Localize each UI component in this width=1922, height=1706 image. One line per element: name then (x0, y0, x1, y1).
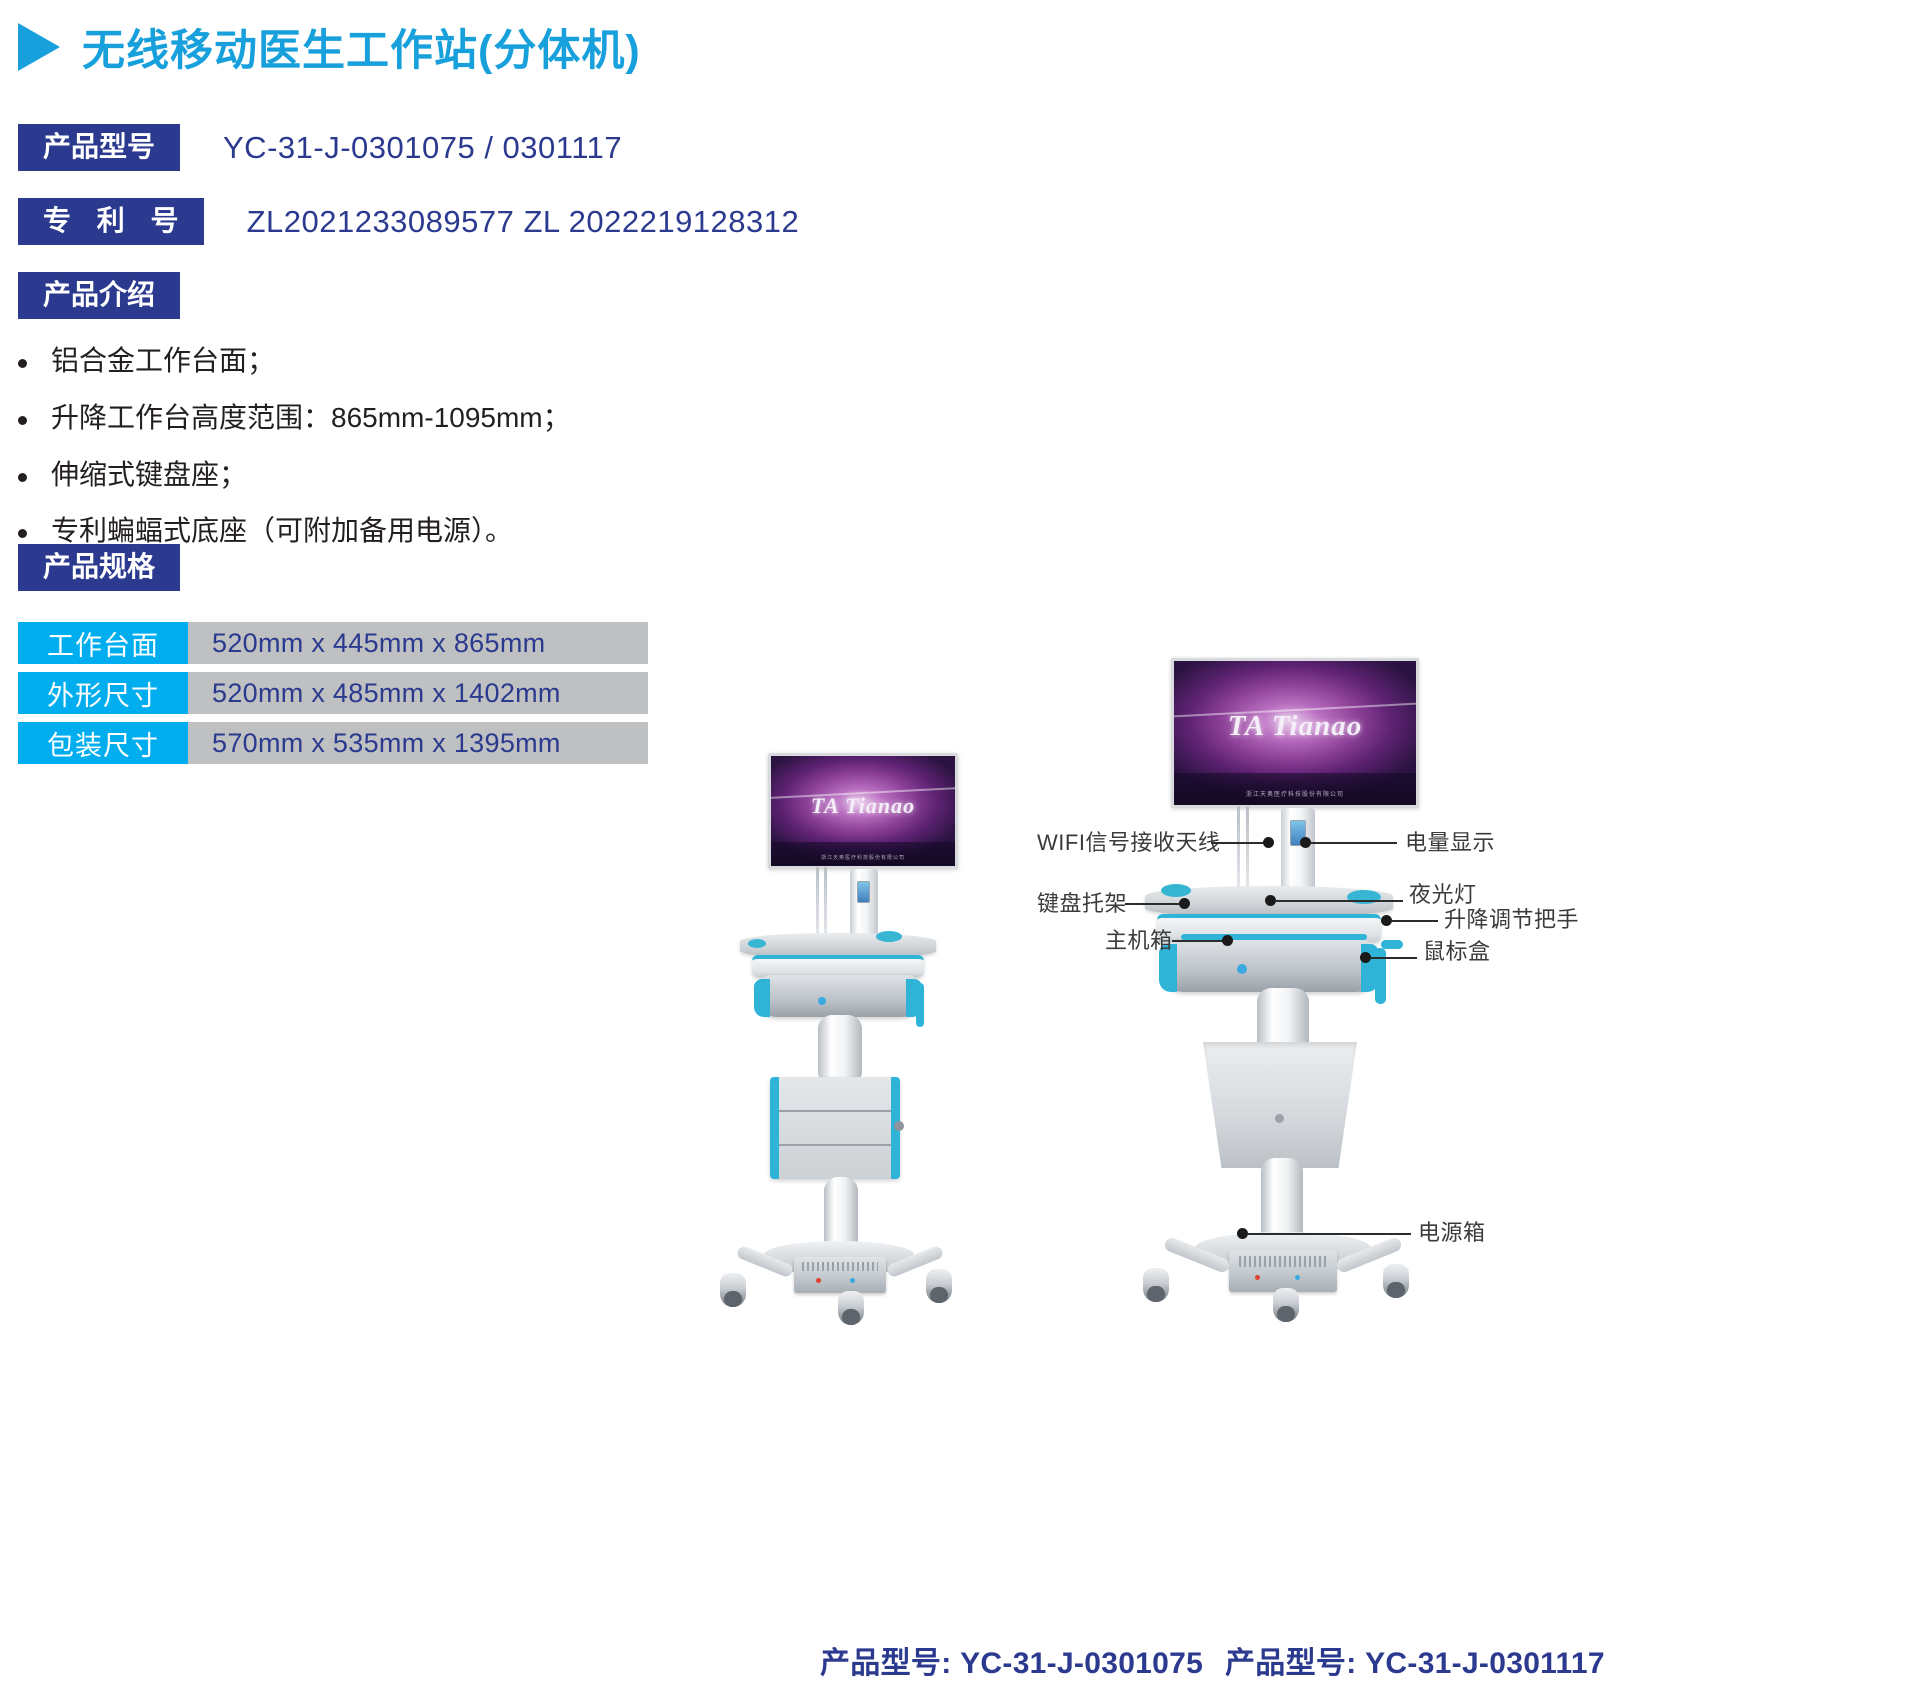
section-badge-intro: 产品介绍 (18, 272, 180, 319)
list-item-label: 升降工作台高度范围：865mm-1095mm； (51, 403, 571, 434)
callout-night-light: 夜光灯 (1409, 884, 1477, 906)
wifi-antenna-icon (816, 867, 819, 939)
battery-display (857, 881, 870, 903)
power-led-red (816, 1278, 821, 1283)
keyboard-tray (752, 955, 924, 977)
callout-anchor-dot (1179, 898, 1190, 909)
cpu-box (1167, 940, 1373, 992)
intro-bullet-list: 铝合金工作台面； 升降工作台高度范围：865mm-1095mm； 伸缩式键盘座；… (18, 346, 738, 573)
callout-leader-line (1247, 1233, 1411, 1235)
table-row: 包装尺寸 570mm x 535mm x 1395mm (18, 722, 648, 764)
cpu-side-cap (754, 979, 770, 1017)
mouse-holder (916, 983, 924, 1027)
drawer-divider (775, 1110, 895, 1112)
table-row: 外形尺寸 520mm x 485mm x 1402mm (18, 672, 648, 714)
list-item: 伸缩式键盘座； (18, 460, 738, 491)
table-row: 工作台面 520mm x 445mm x 865mm (18, 622, 648, 664)
bullet-dot-icon (18, 359, 27, 368)
cart-illustration-right: TA Tianao 浙江天奥医疗科技股份有限公司 (1085, 648, 1445, 1316)
screen-subtitle-text: 浙江天奥医疗科技股份有限公司 (771, 854, 955, 861)
callout-leader-line (1275, 900, 1403, 902)
surface-handle (748, 939, 766, 948)
caster-wheel (1383, 1264, 1409, 1298)
drawer-lock-icon (894, 1121, 904, 1131)
power-led-red (1255, 1275, 1260, 1280)
drawer-unit (770, 1077, 900, 1179)
section-heading-spec: 产品规格 (18, 544, 180, 591)
monitor-screen: TA Tianao 浙江天奥医疗科技股份有限公司 (1171, 658, 1419, 808)
power-led-blue (850, 1278, 855, 1283)
drawer-divider (775, 1144, 895, 1146)
info-row-model: 产品型号 YC-31-J-0301075 / 0301117 (18, 124, 622, 171)
callout-anchor-dot (1263, 837, 1274, 848)
callout-anchor-dot (1222, 935, 1233, 946)
vent-grill (802, 1262, 878, 1271)
basket-screw-icon (1275, 1114, 1284, 1123)
wifi-antenna-icon (1237, 806, 1240, 894)
cart-illustration-left: TA Tianao 浙江天奥医疗科技股份有限公司 (690, 735, 990, 1315)
wifi-antenna-icon (1246, 806, 1249, 894)
section-heading-intro: 产品介绍 (18, 272, 180, 319)
caster-wheel (1143, 1268, 1169, 1302)
power-led-indicator (1237, 964, 1247, 974)
value-patent: ZL2021233089577 ZL 2022219128312 (247, 204, 800, 240)
screen-logo-text: TA Tianao (1174, 710, 1416, 743)
callout-lift-handle: 升降调节把手 (1444, 909, 1579, 931)
label-badge-model: 产品型号 (18, 124, 180, 171)
caster-wheel (1273, 1288, 1299, 1322)
monitor-screen: TA Tianao 浙江天奥医疗科技股份有限公司 (768, 753, 958, 869)
product-photo-right: TA Tianao 浙江天奥医疗科技股份有限公司 (1085, 648, 1445, 1316)
callout-leader-line (1310, 842, 1397, 844)
callout-mouse-box: 鼠标盒 (1423, 941, 1491, 963)
spec-key: 包装尺寸 (18, 722, 188, 764)
caster-wheel (926, 1269, 952, 1303)
info-row-patent: 专 利 号 ZL2021233089577 ZL 2022219128312 (18, 198, 799, 245)
power-led-indicator (818, 997, 826, 1005)
callout-leader-line (1211, 842, 1267, 844)
cpu-box (760, 975, 918, 1017)
power-box (794, 1257, 886, 1293)
caption-right-model: 产品型号: YC-31-J-0301117 (1225, 1638, 1605, 1682)
label-badge-patent: 专 利 号 (18, 198, 204, 245)
callout-cpu-box: 主机箱 (1105, 930, 1173, 952)
callout-power-box: 电源箱 (1418, 1222, 1486, 1244)
power-box (1229, 1250, 1337, 1292)
monitor-post (850, 869, 878, 939)
list-item-label: 专利蝙蝠式底座（可附加备用电源）。 (51, 516, 513, 547)
caption-left-model: 产品型号: YC-31-J-0301075 (820, 1638, 1203, 1682)
power-led-blue (1295, 1275, 1300, 1280)
spec-key: 工作台面 (18, 622, 188, 664)
spec-value: 520mm x 445mm x 865mm (188, 622, 648, 664)
callout-leader-line (1125, 903, 1183, 905)
bullet-dot-icon (18, 529, 27, 538)
list-item-label: 铝合金工作台面； (51, 346, 275, 377)
bullet-dot-icon (18, 473, 27, 482)
spec-key: 外形尺寸 (18, 672, 188, 714)
spec-value: 520mm x 485mm x 1402mm (188, 672, 648, 714)
surface-handle (1161, 884, 1191, 897)
list-item: 铝合金工作台面； (18, 346, 738, 377)
lift-column (818, 1015, 862, 1079)
storage-basket (1203, 1042, 1357, 1168)
callout-leader-line (1172, 940, 1226, 942)
vent-grill (1239, 1256, 1327, 1267)
page-title: 无线移动医生工作站(分体机) (18, 16, 641, 78)
product-photo-left: TA Tianao 浙江天奥医疗科技股份有限公司 (690, 735, 990, 1315)
callout-battery-display: 电量显示 (1405, 832, 1495, 854)
page-title-text: 无线移动医生工作站(分体机) (82, 16, 641, 78)
value-model: YC-31-J-0301075 / 0301117 (223, 130, 622, 166)
caster-wheel (720, 1273, 746, 1307)
drawer-edge (770, 1077, 779, 1179)
surface-handle (876, 931, 902, 942)
screen-subtitle-text: 浙江天奥医疗科技股份有限公司 (1174, 789, 1416, 798)
list-item: 升降工作台高度范围：865mm-1095mm； (18, 403, 738, 434)
spec-table: 工作台面 520mm x 445mm x 865mm 外形尺寸 520mm x … (18, 622, 648, 772)
triangle-right-icon (18, 23, 60, 71)
datasheet-page: 无线移动医生工作站(分体机) 产品型号 YC-31-J-0301075 / 03… (0, 0, 1922, 1706)
callout-wifi-antenna: WIFI信号接收天线 (1037, 832, 1220, 854)
callout-leader-line (1391, 920, 1438, 922)
spec-value: 570mm x 535mm x 1395mm (188, 722, 648, 764)
list-item: 专利蝙蝠式底座（可附加备用电源）。 (18, 516, 738, 547)
section-badge-spec: 产品规格 (18, 544, 180, 591)
wifi-antenna-icon (824, 867, 827, 939)
lift-adjust-handle (1381, 940, 1403, 949)
caster-wheel (838, 1291, 864, 1325)
screen-logo-text: TA Tianao (771, 793, 955, 819)
callout-keyboard-tray: 键盘托架 (1037, 893, 1127, 915)
bullet-dot-icon (18, 416, 27, 425)
list-item-label: 伸缩式键盘座； (51, 460, 247, 491)
callout-leader-line (1370, 957, 1417, 959)
